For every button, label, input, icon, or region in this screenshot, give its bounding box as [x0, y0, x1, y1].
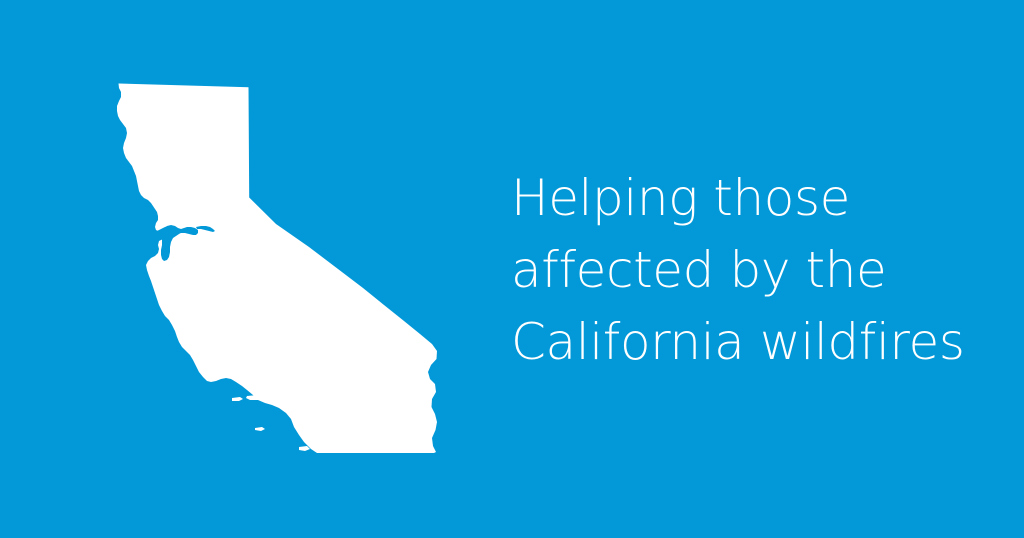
- headline-line-2: affected by the: [511, 234, 981, 306]
- headline-line-3: California wildfires: [511, 306, 981, 378]
- california-map-graphic: [95, 70, 455, 470]
- headline-line-1: Helping those: [511, 162, 981, 234]
- wildfire-relief-banner: Helping those affected by the California…: [0, 0, 1024, 538]
- island-santa-barbara: [255, 427, 265, 431]
- island-san-miguel: [232, 397, 243, 401]
- island-san-nicolas: [299, 446, 310, 451]
- headline-block: Helping those affected by the California…: [511, 162, 981, 378]
- california-map-icon: [95, 70, 455, 470]
